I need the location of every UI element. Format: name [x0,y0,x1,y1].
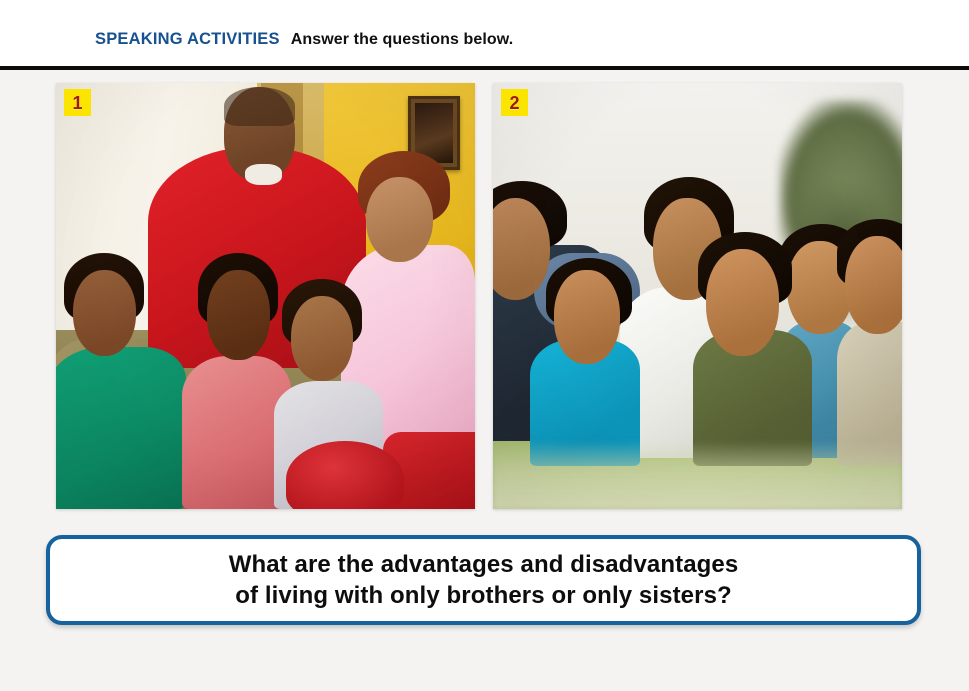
grass-foreground-blur [493,441,902,509]
father-hair [224,87,295,125]
photo-number-badge-1: 1 [64,89,91,116]
daughter-2-head [207,270,270,359]
mother-head [366,177,433,262]
photo-number-badge-2: 2 [501,89,528,116]
header-text-group: SPEAKING ACTIVITIES Answer the questions… [95,30,513,49]
boy-2-head [706,249,780,356]
header-band: SPEAKING ACTIVITIES Answer the questions… [0,0,969,66]
daughter-1-green-top [56,347,186,509]
question-line-1: What are the advantages and disadvantage… [229,549,739,580]
father-collar [245,164,283,185]
red-cushion [286,441,403,509]
daughter-3-head [291,296,354,381]
section-kicker: SPEAKING ACTIVITIES [95,30,280,49]
photo-card-2[interactable]: 2 [493,83,902,509]
photo-scene-1 [56,83,475,509]
boy-1-head [554,270,619,364]
question-box: What are the advantages and disadvantage… [46,535,921,625]
instruction-text: Answer the questions below. [291,31,514,49]
daughter-1-head [73,270,136,355]
photo-scene-2 [493,83,902,509]
page-body: 1 [0,70,969,691]
question-text: What are the advantages and disadvantage… [229,549,739,611]
boy-4-head [845,236,902,334]
question-line-2: of living with only brothers or only sis… [229,580,739,611]
photo-card-1[interactable]: 1 [56,83,475,509]
